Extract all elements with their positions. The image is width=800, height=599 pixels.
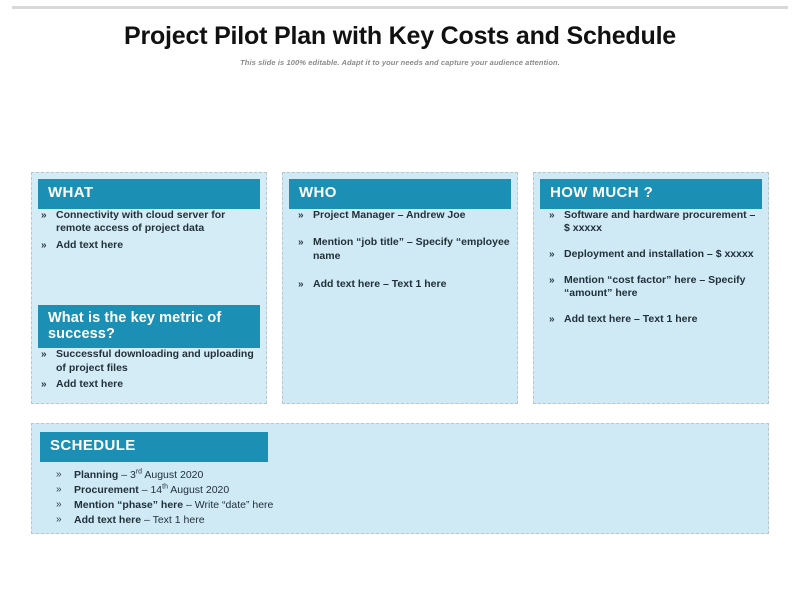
list-item: Connectivity with cloud server for remot… <box>38 209 260 236</box>
page-subtitle: This slide is 100% editable. Adapt it to… <box>0 58 800 67</box>
card-how-much-header: HOW MUCH ? <box>540 179 762 209</box>
schedule-item-label: Procurement <box>74 484 139 496</box>
card-schedule-header: SCHEDULE <box>40 432 268 462</box>
card-how-much-bullets: Software and hardware procurement – $ xx… <box>540 209 762 339</box>
card-what-spacer <box>38 256 260 305</box>
card-what-bullets: Connectivity with cloud server for remot… <box>38 209 260 256</box>
card-what-header: WHAT <box>38 179 260 209</box>
schedule-list: Planning – 3rd August 2020 Procurement –… <box>40 468 760 528</box>
card-who-header: WHO <box>289 179 511 209</box>
slide-header: Project Pilot Plan with Key Costs and Sc… <box>0 22 800 67</box>
list-item: Mention “cost factor” here – Specify “am… <box>546 274 762 301</box>
card-what-subheader: What is the key metric of success? <box>38 305 260 348</box>
card-what-sub-bullets: Successful downloading and uploading of … <box>38 348 260 395</box>
schedule-item-value-post: August 2020 <box>142 469 203 481</box>
list-item: Planning – 3rd August 2020 <box>46 468 760 483</box>
list-item: Project Manager – Andrew Joe <box>295 209 511 223</box>
list-item: Add text here – Text 1 here <box>46 513 760 528</box>
list-item: Add text here – Text 1 here <box>546 313 762 327</box>
card-what: WHAT Connectivity with cloud server for … <box>31 172 267 404</box>
card-who-bullets: Project Manager – Andrew Joe Mention “jo… <box>289 209 511 306</box>
schedule-item-sep: – <box>183 499 195 511</box>
list-item: Deployment and installation – $ xxxxx <box>546 248 762 262</box>
schedule-item-value: Text 1 here <box>153 514 205 526</box>
schedule-item-value: Write “date” here <box>195 499 274 511</box>
schedule-item-label: Mention “phase” here <box>74 499 183 511</box>
card-schedule: SCHEDULE Planning – 3rd August 2020 Proc… <box>31 423 769 534</box>
schedule-item-label: Add text here <box>74 514 141 526</box>
list-item: Procurement – 14th August 2020 <box>46 483 760 498</box>
list-item: Mention “phase” here – Write “date” here <box>46 498 760 513</box>
list-item: Add text here <box>38 378 260 392</box>
schedule-item-sep: – <box>141 514 152 526</box>
page-title: Project Pilot Plan with Key Costs and Sc… <box>0 22 800 51</box>
list-item: Successful downloading and uploading of … <box>38 348 260 375</box>
list-item: Add text here – Text 1 here <box>295 278 511 292</box>
schedule-item-value-post: August 2020 <box>168 484 229 496</box>
list-item: Software and hardware procurement – $ xx… <box>546 209 762 236</box>
list-item: Mention “job title” – Specify “employee … <box>295 236 511 263</box>
card-who: WHO Project Manager – Andrew Joe Mention… <box>282 172 518 404</box>
card-how-much: HOW MUCH ? Software and hardware procure… <box>533 172 769 404</box>
list-item: Add text here <box>38 239 260 253</box>
schedule-item-label: Planning <box>74 469 118 481</box>
schedule-item-sep: – <box>118 469 130 481</box>
top-divider <box>12 6 788 9</box>
slide: Project Pilot Plan with Key Costs and Sc… <box>0 0 800 599</box>
schedule-item-sep: – <box>139 484 151 496</box>
schedule-item-value: 14 <box>150 484 162 496</box>
cards-row: WHAT Connectivity with cloud server for … <box>31 172 769 404</box>
